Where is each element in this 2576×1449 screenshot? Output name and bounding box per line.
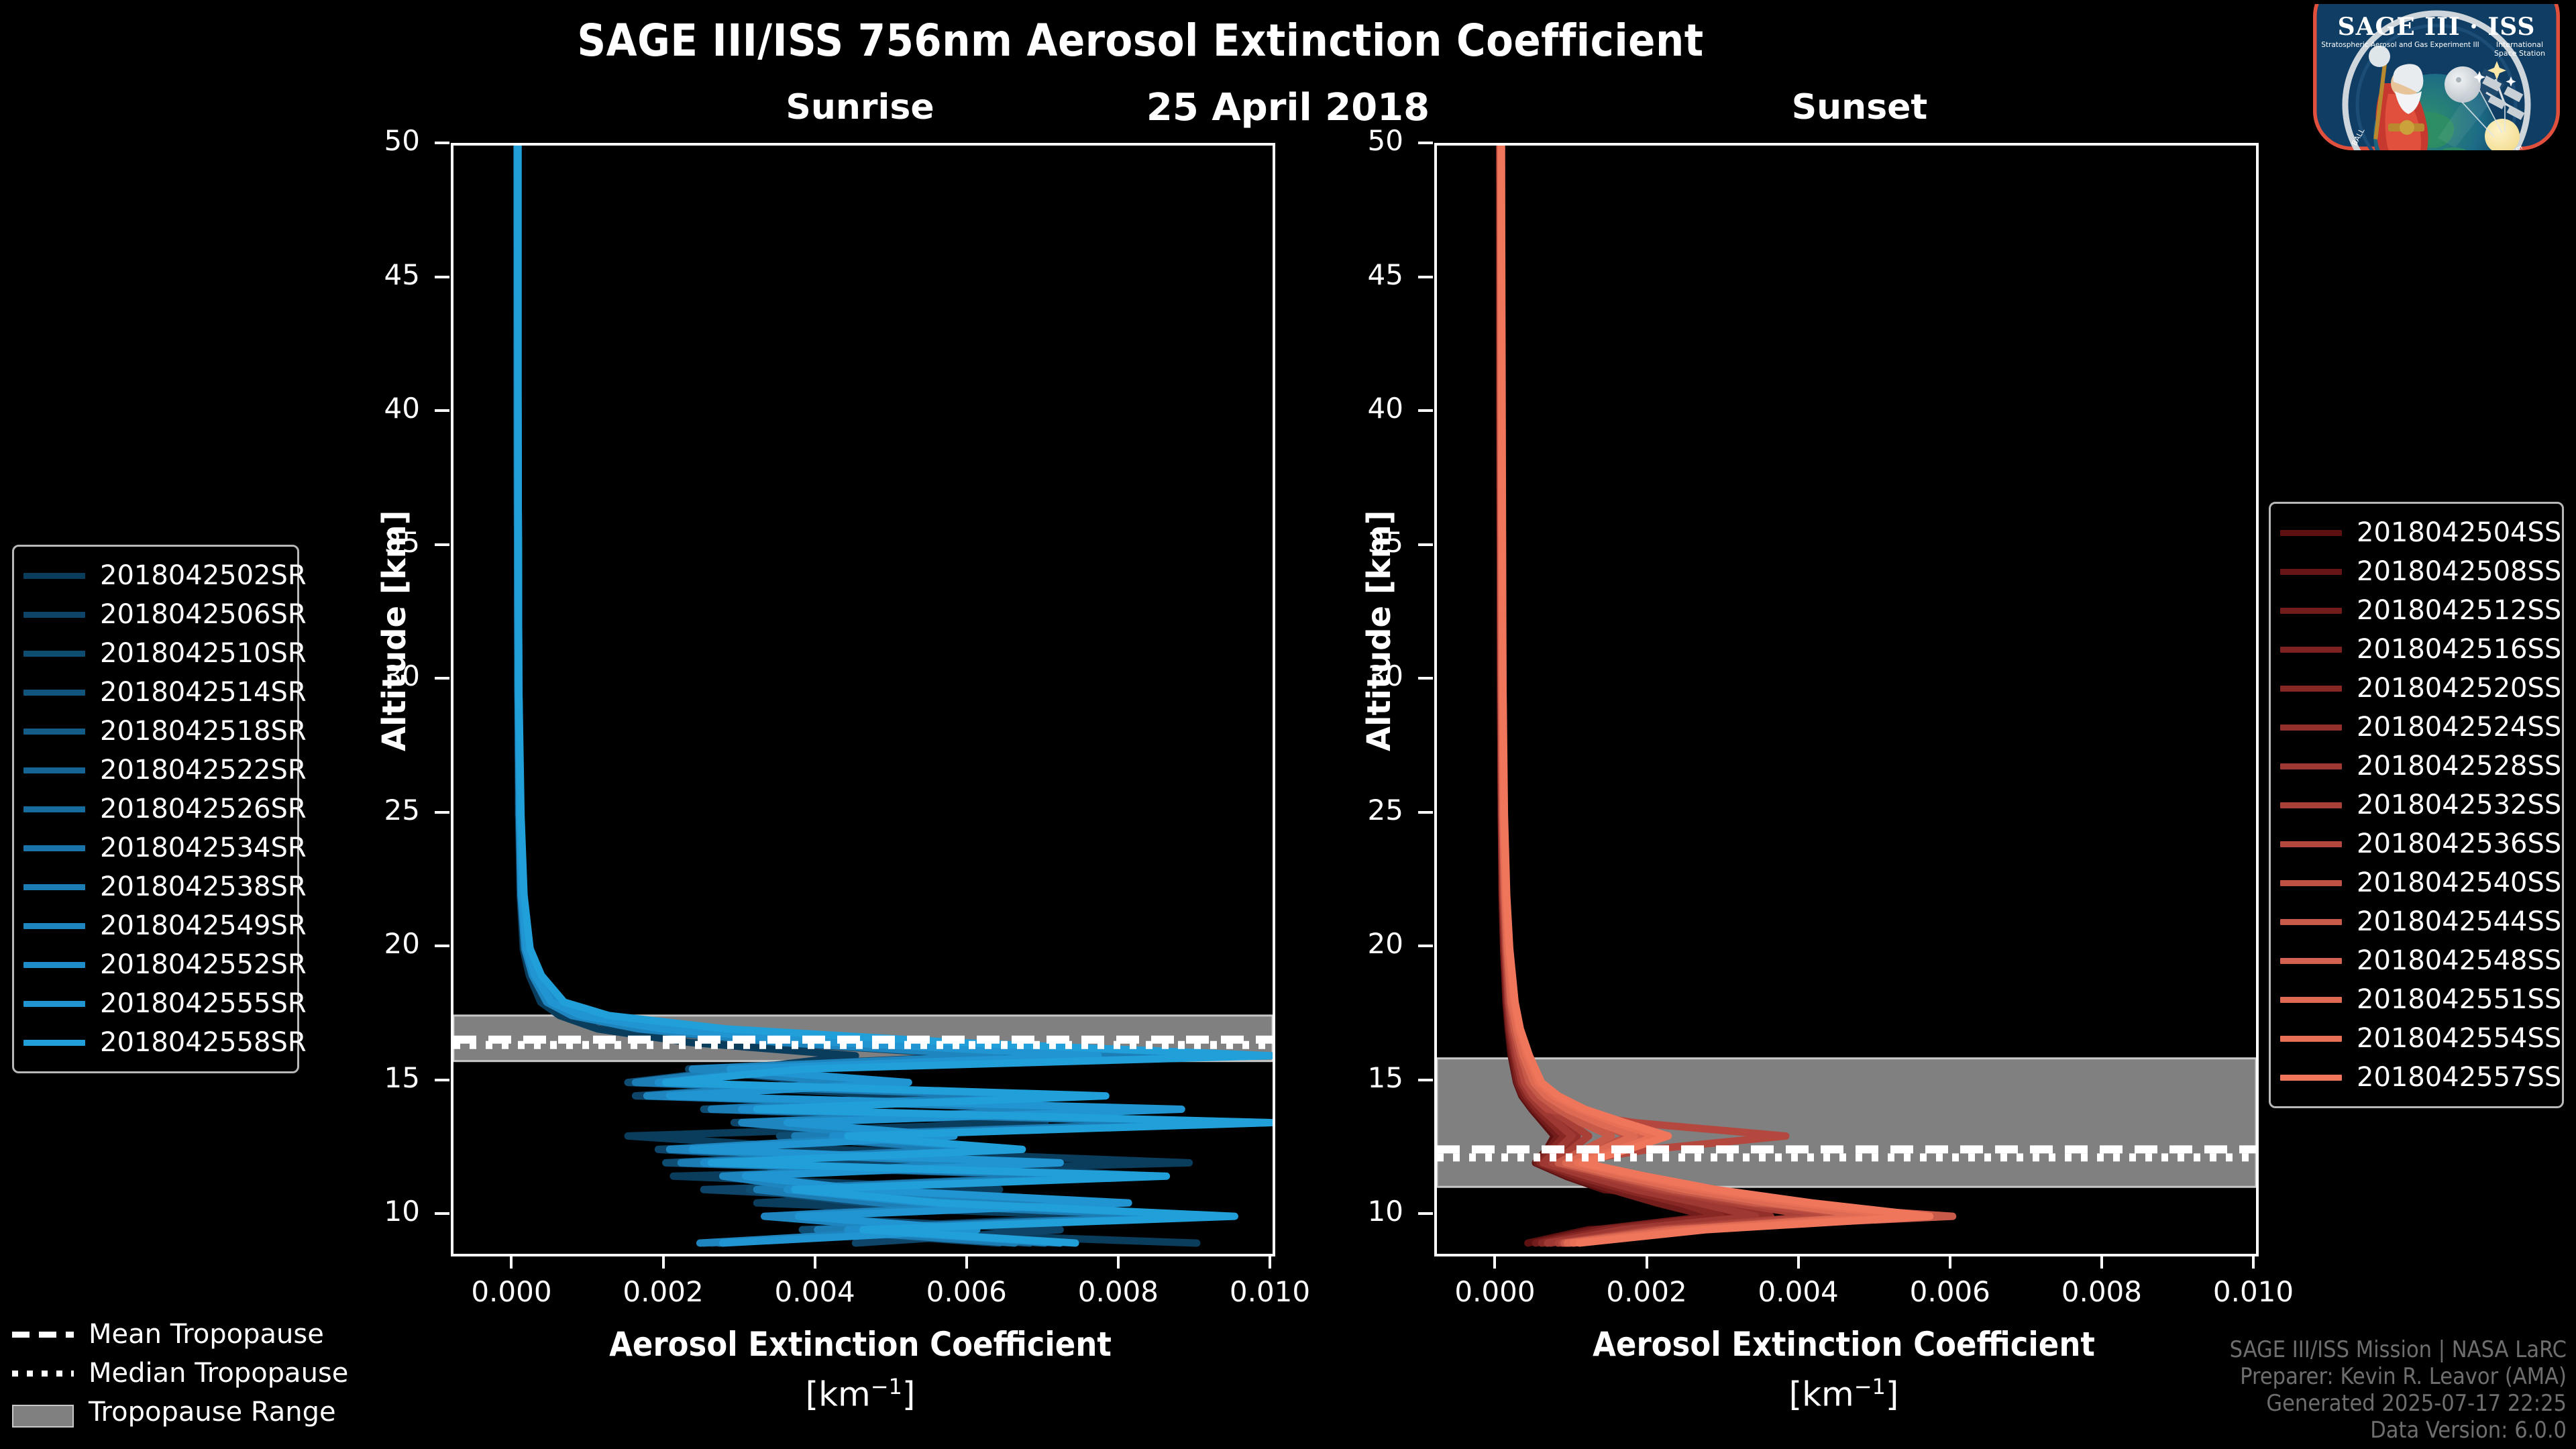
sunset-x-axis-label: Aerosol Extinction Coefficient (1434, 1325, 2253, 1364)
sunrise-legend-label: 2018042534SR (100, 833, 307, 863)
date-subtitle: 25 April 2018 (1087, 86, 1489, 129)
sunset-ytick-label-50: 50 (1303, 124, 1403, 157)
sunrise-ytick-label-40: 40 (319, 392, 420, 425)
sunrise-legend-item[interactable]: 2018042558SR (23, 1023, 285, 1062)
sunrise-legend-color-swatch (23, 884, 85, 890)
moon-crater (2456, 77, 2461, 83)
sunset-ytick-label-15: 15 (1303, 1061, 1403, 1094)
sunrise-legend-color-swatch (23, 923, 85, 929)
sunrise-legend-color-swatch (23, 962, 85, 968)
sunrise-legend-color-swatch (23, 573, 85, 579)
sunset-legend-item[interactable]: 2018042532SS (2280, 786, 2550, 824)
sunrise-ytick-label-45: 45 (319, 258, 420, 291)
sunrise-legend-color-swatch (23, 1040, 85, 1046)
sunset-legend-label: 2018042524SS (2357, 712, 2561, 743)
sunrise-legend-label: 2018042506SR (100, 599, 307, 630)
sunrise-legend-color-swatch (23, 612, 85, 618)
sunset-legend-label: 2018042504SS (2357, 517, 2561, 548)
tropopause-key-item: Mean Tropopause (12, 1315, 388, 1354)
sunset-xtick-label-3: 0.006 (1876, 1275, 2024, 1308)
sunrise-legend-label: 2018042558SR (100, 1027, 307, 1058)
tropopause-key-band-icon (12, 1403, 74, 1421)
sunset-legend-label: 2018042540SS (2357, 867, 2561, 898)
sunset-legend-color-swatch (2280, 802, 2342, 808)
logo-subtitle-right-2: Space Station (2494, 49, 2545, 58)
sunset-ytick-mark-30 (1418, 677, 1433, 680)
sunset-legend-item[interactable]: 2018042520SS (2280, 669, 2550, 708)
sunrise-xtick-label-5: 0.010 (1196, 1275, 1344, 1308)
x-units-close: ] (902, 1375, 916, 1414)
profile-line (517, 146, 1181, 1243)
sunrise-xtick-mark-4 (1117, 1254, 1120, 1269)
footer-line-generated: Generated 2025-07-17 22:25 (2230, 1390, 2567, 1417)
sunrise-legend-item[interactable]: 2018042506SR (23, 595, 285, 634)
sunset-legend-item[interactable]: 2018042544SS (2280, 902, 2550, 941)
sunrise-legend-color-swatch (23, 729, 85, 735)
sunset-ytick-mark-20 (1418, 945, 1433, 947)
tropopause-key-dotted-glyph (12, 1371, 74, 1377)
sunrise-xtick-mark-5 (1269, 1254, 1271, 1269)
sunset-xtick-label-2: 0.004 (1725, 1275, 1872, 1308)
x-units-exponent: −1 (1854, 1374, 1886, 1399)
sunrise-ytick-mark-50 (435, 142, 449, 144)
page-title: SAGE III/ISS 756nm Aerosol Extinction Co… (0, 15, 2281, 66)
sunset-ytick-mark-10 (1418, 1212, 1433, 1215)
sunset-legend-item[interactable]: 2018042516SS (2280, 630, 2550, 669)
footer-credits: SAGE III/ISS Mission | NASA LaRC Prepare… (2230, 1336, 2567, 1444)
sunset-legend-color-swatch (2280, 880, 2342, 886)
sunset-ytick-mark-25 (1418, 811, 1433, 814)
sunrise-plot-canvas (453, 146, 1273, 1254)
sunset-x-axis-units: [km−1] (1434, 1374, 2253, 1414)
sunrise-ytick-mark-15 (435, 1079, 449, 1081)
sunrise-xtick-label-2: 0.004 (741, 1275, 889, 1308)
sunrise-plot-area (451, 143, 1275, 1256)
sunset-xtick-label-0: 0.000 (1421, 1275, 1568, 1308)
sunset-xtick-mark-3 (1949, 1254, 1951, 1269)
sunset-legend-color-swatch (2280, 1036, 2342, 1042)
sunrise-xtick-label-3: 0.006 (893, 1275, 1040, 1308)
tropopause-key-dashed-glyph (12, 1332, 74, 1338)
x-units-base: [km (806, 1375, 871, 1414)
sunrise-legend-item[interactable]: 2018042526SR (23, 790, 285, 828)
sunset-legend-label: 2018042548SS (2357, 945, 2561, 976)
sunrise-ytick-mark-10 (435, 1212, 449, 1215)
sunrise-legend-item[interactable]: 2018042552SR (23, 945, 285, 984)
sunset-xtick-mark-0 (1493, 1254, 1496, 1269)
sunrise-ytick-mark-35 (435, 543, 449, 546)
sunset-legend-color-swatch (2280, 647, 2342, 653)
sunrise-xtick-mark-0 (510, 1254, 513, 1269)
sunset-legend-item[interactable]: 2018042548SS (2280, 941, 2550, 980)
sunset-legend-color-swatch (2280, 530, 2342, 536)
sunset-legend-item[interactable]: 2018042551SS (2280, 980, 2550, 1019)
sage-iii-iss-mission-patch-logo: BALL ESA SAGE III · ISS Stratospheric Ae… (2304, 4, 2569, 150)
tropopause-key-dashed-icon (12, 1326, 74, 1343)
sunrise-ytick-label-20: 20 (319, 927, 420, 960)
sunset-plot-area (1434, 143, 2259, 1256)
sunrise-legend-item[interactable]: 2018042534SR (23, 828, 285, 867)
sunrise-legend-item[interactable]: 2018042518SR (23, 712, 285, 751)
sunset-legend-color-swatch (2280, 763, 2342, 769)
tropopause-key: Mean TropopauseMedian TropopauseTropopau… (12, 1315, 388, 1432)
sunrise-legend-item[interactable]: 2018042538SR (23, 867, 285, 906)
sunset-xtick-mark-4 (2100, 1254, 2103, 1269)
sunset-legend-item[interactable]: 2018042540SS (2280, 863, 2550, 902)
logo-subtitle-left: Stratospheric Aerosol and Gas Experiment… (2321, 41, 2479, 49)
sunrise-legend-label: 2018042549SR (100, 910, 307, 941)
sunset-ytick-label-25: 25 (1303, 794, 1403, 826)
sunset-legend-item[interactable]: 2018042508SS (2280, 552, 2550, 591)
sunrise-ytick-mark-30 (435, 677, 449, 680)
sunrise-x-axis-label: Aerosol Extinction Coefficient (451, 1325, 1270, 1364)
sunset-legend-label: 2018042512SS (2357, 595, 2561, 626)
sunset-xtick-mark-1 (1646, 1254, 1648, 1269)
logo-subtitle-right-1: International (2496, 40, 2543, 49)
sunrise-legend-item[interactable]: 2018042549SR (23, 906, 285, 945)
sunset-legend-color-swatch (2280, 958, 2342, 964)
sunrise-xtick-label-1: 0.002 (590, 1275, 737, 1308)
sunset-panel-heading: Sunset (1652, 87, 2068, 127)
sunrise-y-axis-label: Altitude [km] (376, 510, 413, 751)
sunrise-ytick-mark-45 (435, 276, 449, 278)
sunset-ytick-label-10: 10 (1303, 1195, 1403, 1228)
tropopause-key-label: Mean Tropopause (89, 1319, 324, 1350)
atlas-buckle (2400, 120, 2414, 135)
sunrise-legend-item[interactable]: 2018042514SR (23, 673, 285, 712)
sunrise-ytick-label-50: 50 (319, 124, 420, 157)
sunset-xtick-mark-2 (1797, 1254, 1800, 1269)
sunset-legend-label: 2018042516SS (2357, 634, 2561, 665)
sunrise-legend-item[interactable]: 2018042502SR (23, 556, 285, 595)
sunset-legend-color-swatch (2280, 841, 2342, 847)
sunset-legend-label: 2018042554SS (2357, 1023, 2561, 1054)
sunrise-ytick-label-25: 25 (319, 794, 420, 826)
sunrise-legend-label: 2018042502SR (100, 560, 307, 591)
footer-line-preparer: Preparer: Kevin R. Leavor (AMA) (2230, 1363, 2567, 1390)
sunset-legend-color-swatch (2280, 569, 2342, 575)
sunset-xtick-mark-5 (2252, 1254, 2255, 1269)
sunset-xtick-label-4: 0.008 (2028, 1275, 2176, 1308)
sunset-y-axis-label: Altitude [km] (1360, 510, 1398, 751)
sunset-legend-label: 2018042551SS (2357, 984, 2561, 1015)
sunrise-legend-label: 2018042518SR (100, 716, 307, 747)
sunrise-legend-item[interactable]: 2018042522SR (23, 751, 285, 790)
sunrise-legend-color-swatch (23, 1001, 85, 1007)
sunset-legend-label: 2018042557SS (2357, 1062, 2561, 1093)
sunset-legend-label: 2018042528SS (2357, 751, 2561, 782)
sunset-legend-color-swatch (2280, 724, 2342, 731)
sunrise-ytick-label-10: 10 (319, 1195, 420, 1228)
x-units-close: ] (1886, 1375, 1899, 1414)
sunrise-xtick-label-4: 0.008 (1044, 1275, 1192, 1308)
sunset-ytick-mark-50 (1418, 142, 1433, 144)
sunset-legend-color-swatch (2280, 686, 2342, 692)
footer-line-mission: SAGE III/ISS Mission | NASA LaRC (2230, 1336, 2567, 1363)
sunrise-legend-label: 2018042522SR (100, 755, 307, 786)
sunset-legend-item[interactable]: 2018042504SS (2280, 513, 2550, 552)
tropopause-key-label: Tropopause Range (89, 1397, 336, 1428)
sunset-ytick-mark-40 (1418, 409, 1433, 412)
sunrise-ytick-label-15: 15 (319, 1061, 420, 1094)
footer-line-version: Data Version: 6.0.0 (2230, 1417, 2567, 1444)
sunrise-legend-item[interactable]: 2018042555SR (23, 984, 285, 1023)
sunrise-xtick-mark-1 (662, 1254, 665, 1269)
sunset-legend-color-swatch (2280, 608, 2342, 614)
sunset-legend-color-swatch (2280, 919, 2342, 925)
sunset-ytick-mark-15 (1418, 1079, 1433, 1081)
sunset-legend[interactable]: 2018042504SS2018042508SS2018042512SS2018… (2269, 502, 2564, 1108)
sunrise-legend-label: 2018042510SR (100, 638, 307, 669)
sunrise-xtick-label-0: 0.000 (437, 1275, 585, 1308)
sunrise-x-axis-units: [km−1] (451, 1374, 1270, 1414)
sunrise-legend-color-swatch (23, 690, 85, 696)
sunset-legend-label: 2018042544SS (2357, 906, 2561, 937)
sunrise-xtick-mark-2 (814, 1254, 816, 1269)
sunset-ytick-label-40: 40 (1303, 392, 1403, 425)
sunset-legend-label: 2018042520SS (2357, 673, 2561, 704)
sunset-legend-color-swatch (2280, 1075, 2342, 1081)
sunset-legend-item[interactable]: 2018042512SS (2280, 591, 2550, 630)
profile-line (517, 146, 1083, 1243)
sunset-legend-color-swatch (2280, 997, 2342, 1003)
sunrise-ytick-mark-40 (435, 409, 449, 412)
sunrise-legend-item[interactable]: 2018042510SR (23, 634, 285, 673)
sunset-legend-label: 2018042536SS (2357, 828, 2561, 859)
sunrise-legend-label: 2018042555SR (100, 988, 307, 1019)
sunset-ytick-label-45: 45 (1303, 258, 1403, 291)
tropopause-key-label: Median Tropopause (89, 1358, 348, 1389)
sunrise-ytick-mark-25 (435, 811, 449, 814)
tropopause-key-item: Median Tropopause (12, 1354, 388, 1393)
sunset-legend-item[interactable]: 2018042536SS (2280, 824, 2550, 863)
x-units-base: [km (1789, 1375, 1854, 1414)
sunset-plot-canvas (1437, 146, 2256, 1254)
sunset-ytick-mark-35 (1418, 543, 1433, 546)
sunrise-ytick-mark-20 (435, 945, 449, 947)
sunrise-legend[interactable]: 2018042502SR2018042506SR2018042510SR2018… (12, 545, 299, 1073)
sunset-legend-item[interactable]: 2018042557SS (2280, 1058, 2550, 1097)
x-units-exponent: −1 (871, 1374, 902, 1399)
sunset-xtick-label-1: 0.002 (1573, 1275, 1721, 1308)
sunrise-legend-label: 2018042514SR (100, 677, 307, 708)
sunset-ytick-label-20: 20 (1303, 927, 1403, 960)
plot-page: SAGE III/ISS 756nm Aerosol Extinction Co… (0, 0, 2576, 1449)
sunset-legend-item[interactable]: 2018042554SS (2280, 1019, 2550, 1058)
tropopause-key-item: Tropopause Range (12, 1393, 388, 1432)
sunset-xtick-label-5: 0.010 (2180, 1275, 2327, 1308)
sunset-ytick-mark-45 (1418, 276, 1433, 278)
logo-svg: BALL ESA SAGE III · ISS Stratospheric Ae… (2304, 4, 2569, 150)
tropopause-key-dotted-icon (12, 1364, 74, 1382)
sunset-legend-item[interactable]: 2018042528SS (2280, 747, 2550, 786)
tropopause-key-band-glyph (12, 1405, 74, 1428)
sunset-legend-label: 2018042532SS (2357, 790, 2561, 820)
sunrise-legend-color-swatch (23, 767, 85, 773)
logo-title: SAGE III · ISS (2338, 13, 2536, 41)
sunrise-panel-heading: Sunrise (652, 87, 1068, 127)
sunset-legend-item[interactable]: 2018042524SS (2280, 708, 2550, 747)
sunset-legend-label: 2018042508SS (2357, 556, 2561, 587)
sunrise-legend-label: 2018042538SR (100, 871, 307, 902)
sunrise-legend-label: 2018042526SR (100, 794, 307, 824)
sunrise-xtick-mark-3 (965, 1254, 968, 1269)
sunrise-legend-color-swatch (23, 806, 85, 812)
sunrise-legend-color-swatch (23, 845, 85, 851)
sunrise-legend-label: 2018042552SR (100, 949, 307, 980)
sunrise-legend-color-swatch (23, 651, 85, 657)
